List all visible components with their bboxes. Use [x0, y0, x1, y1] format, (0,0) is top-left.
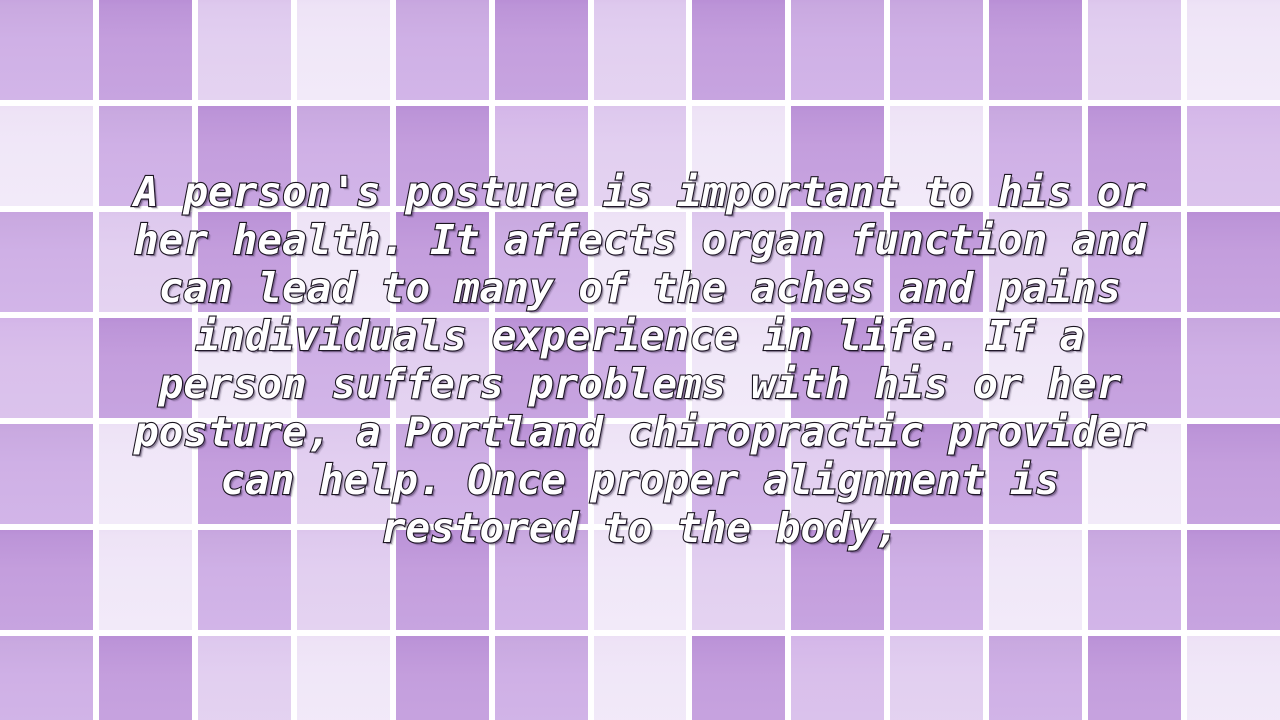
mosaic-tile	[989, 636, 1082, 720]
mosaic-tile	[396, 0, 489, 100]
mosaic-tile	[495, 636, 588, 720]
caption-text-block: A person's posture is important to his o…	[0, 168, 1280, 552]
mosaic-tile	[594, 0, 687, 100]
caption-line: person suffers problems with his or her	[0, 360, 1280, 408]
mosaic-tile	[594, 636, 687, 720]
mosaic-tile	[989, 0, 1082, 100]
mosaic-tile	[0, 0, 93, 100]
mosaic-tile	[1187, 636, 1280, 720]
mosaic-tile	[1088, 636, 1181, 720]
caption-line: restored to the body,	[0, 504, 1280, 552]
caption-line: can help. Once proper alignment is	[0, 456, 1280, 504]
caption-line: A person's posture is important to his o…	[0, 168, 1280, 216]
mosaic-tile	[0, 636, 93, 720]
mosaic-tile	[692, 0, 785, 100]
mosaic-tile	[791, 0, 884, 100]
mosaic-tile	[791, 636, 884, 720]
mosaic-tile	[396, 636, 489, 720]
mosaic-tile	[890, 0, 983, 100]
mosaic-tile	[99, 0, 192, 100]
caption-line: posture, a Portland chiropractic provide…	[0, 408, 1280, 456]
mosaic-tile	[692, 636, 785, 720]
mosaic-tile	[1088, 0, 1181, 100]
mosaic-tile	[198, 636, 291, 720]
caption-line: her health. It affects organ function an…	[0, 216, 1280, 264]
mosaic-tile	[99, 636, 192, 720]
mosaic-tile	[495, 0, 588, 100]
mosaic-tile	[297, 0, 390, 100]
mosaic-tile	[198, 0, 291, 100]
mosaic-tile	[297, 636, 390, 720]
slide-canvas: A person's posture is important to his o…	[0, 0, 1280, 720]
caption-line: individuals experience in life. If a	[0, 312, 1280, 360]
caption-line: can lead to many of the aches and pains	[0, 264, 1280, 312]
mosaic-tile	[890, 636, 983, 720]
mosaic-tile	[1187, 0, 1280, 100]
